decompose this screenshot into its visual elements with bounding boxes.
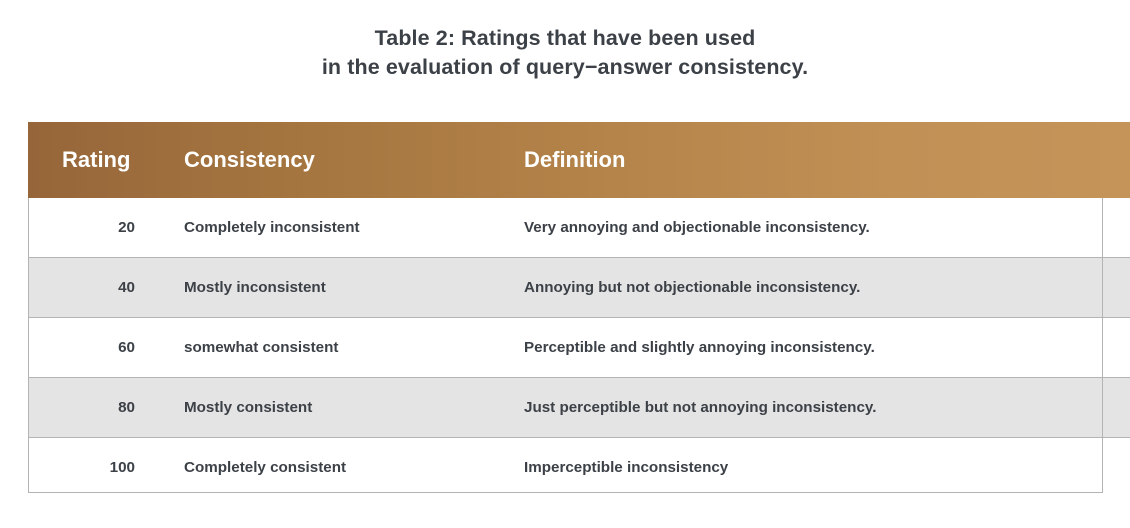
cell-consistency: Mostly consistent bbox=[184, 378, 524, 438]
cell-consistency: Mostly inconsistent bbox=[184, 258, 524, 318]
column-header-definition: Definition bbox=[524, 122, 1130, 198]
cell-rating: 40 bbox=[28, 258, 184, 318]
caption-line-1: Table 2: Ratings that have been used bbox=[0, 24, 1130, 53]
column-header-rating: Rating bbox=[28, 122, 184, 198]
cell-rating: 60 bbox=[28, 318, 184, 378]
cell-consistency: Completely inconsistent bbox=[184, 198, 524, 258]
ratings-table-container: Rating Consistency Definition 20 Complet… bbox=[28, 122, 1103, 497]
cell-consistency: Completely consistent bbox=[184, 438, 524, 498]
cell-definition: Very annoying and objectionable inconsis… bbox=[524, 198, 1130, 258]
cell-consistency: somewhat consistent bbox=[184, 318, 524, 378]
table-row: 80 Mostly consistent Just perceptible bu… bbox=[28, 378, 1130, 438]
column-header-consistency: Consistency bbox=[184, 122, 524, 198]
cell-rating: 20 bbox=[28, 198, 184, 258]
table-figure: Table 2: Ratings that have been used in … bbox=[0, 0, 1130, 528]
table-row: 60 somewhat consistent Perceptible and s… bbox=[28, 318, 1130, 378]
cell-definition: Imperceptible inconsistency bbox=[524, 438, 1130, 498]
table-head: Rating Consistency Definition bbox=[28, 122, 1130, 198]
cell-definition: Just perceptible but not annoying incons… bbox=[524, 378, 1130, 438]
table-row: 20 Completely inconsistent Very annoying… bbox=[28, 198, 1130, 258]
table-header-row: Rating Consistency Definition bbox=[28, 122, 1130, 198]
ratings-table: Rating Consistency Definition 20 Complet… bbox=[28, 122, 1130, 497]
cell-rating: 80 bbox=[28, 378, 184, 438]
table-body: 20 Completely inconsistent Very annoying… bbox=[28, 198, 1130, 497]
cell-definition: Annoying but not objectionable inconsist… bbox=[524, 258, 1130, 318]
table-caption: Table 2: Ratings that have been used in … bbox=[0, 24, 1130, 82]
table-row: 40 Mostly inconsistent Annoying but not … bbox=[28, 258, 1130, 318]
table-row: 100 Completely consistent Imperceptible … bbox=[28, 438, 1130, 498]
caption-line-2: in the evaluation of query−answer consis… bbox=[0, 53, 1130, 82]
cell-rating: 100 bbox=[28, 438, 184, 498]
cell-definition: Perceptible and slightly annoying incons… bbox=[524, 318, 1130, 378]
